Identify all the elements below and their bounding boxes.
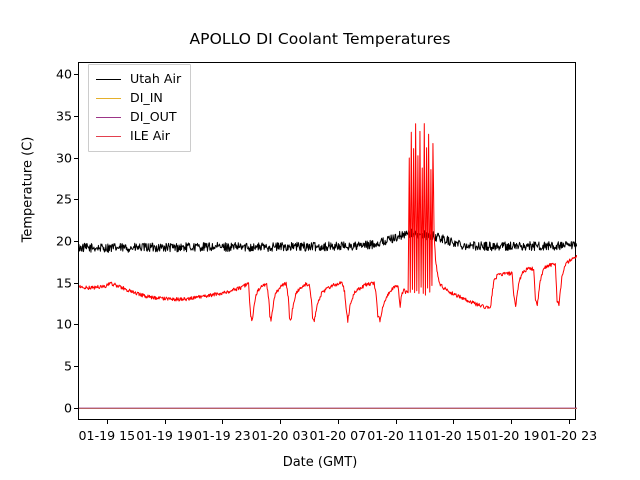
x-tick-label: 01-20 11 — [367, 428, 424, 443]
y-tick-mark — [74, 199, 78, 200]
y-tick-mark — [74, 158, 78, 159]
y-tick-label: 35 — [56, 109, 72, 124]
y-tick-label: 40 — [56, 67, 72, 82]
y-tick-label: 25 — [56, 192, 72, 207]
y-tick-mark — [74, 283, 78, 284]
series-line-ile-air — [79, 124, 577, 323]
y-tick-mark — [74, 366, 78, 367]
x-tick-label: 01-19 23 — [194, 428, 251, 443]
y-axis-tick-labels: 0510152025303540 — [0, 0, 72, 480]
legend-item[interactable]: DI_IN — [96, 89, 181, 108]
legend-item[interactable]: Utah Air — [96, 70, 181, 89]
x-tick-label: 01-20 15 — [425, 428, 482, 443]
legend-label: DI_OUT — [130, 111, 177, 124]
chart-title: APOLLO DI Coolant Temperatures — [0, 30, 640, 48]
x-tick-label: 01-20 03 — [252, 428, 309, 443]
legend-label: DI_IN — [130, 92, 163, 105]
y-tick-label: 10 — [56, 317, 72, 332]
x-tick-mark — [511, 420, 512, 424]
legend-label: Utah Air — [130, 73, 181, 86]
y-tick-label: 30 — [56, 150, 72, 165]
x-tick-label: 01-20 19 — [483, 428, 540, 443]
x-tick-mark — [338, 420, 339, 424]
y-tick-mark — [74, 116, 78, 117]
legend-color-swatch — [96, 98, 121, 99]
y-tick-label: 15 — [56, 275, 72, 290]
chart-figure: APOLLO DI Coolant Temperatures Temperatu… — [0, 0, 640, 480]
x-tick-mark — [569, 420, 570, 424]
legend-color-swatch — [96, 79, 121, 80]
chart-legend: Utah AirDI_INDI_OUTILE Air — [88, 64, 191, 152]
legend-color-swatch — [96, 117, 121, 118]
y-tick-mark — [74, 324, 78, 325]
legend-color-swatch — [96, 136, 121, 137]
y-tick-mark — [74, 241, 78, 242]
x-tick-label: 01-20 07 — [310, 428, 367, 443]
y-tick-mark — [74, 74, 78, 75]
x-tick-mark — [280, 420, 281, 424]
x-tick-mark — [107, 420, 108, 424]
legend-item[interactable]: ILE Air — [96, 127, 181, 146]
series-line-utah-air — [79, 229, 577, 252]
x-axis-label: Date (GMT) — [0, 455, 640, 470]
y-tick-mark — [74, 408, 78, 409]
y-tick-label: 5 — [64, 358, 72, 373]
x-tick-mark — [453, 420, 454, 424]
legend-item[interactable]: DI_OUT — [96, 108, 181, 127]
x-tick-mark — [396, 420, 397, 424]
legend-label: ILE Air — [130, 130, 170, 143]
x-tick-label: 01-19 15 — [79, 428, 136, 443]
x-tick-mark — [165, 420, 166, 424]
x-tick-mark — [222, 420, 223, 424]
y-tick-label: 20 — [56, 234, 72, 249]
x-tick-label: 01-20 23 — [540, 428, 597, 443]
x-tick-label: 01-19 19 — [136, 428, 193, 443]
y-tick-label: 0 — [64, 400, 72, 415]
